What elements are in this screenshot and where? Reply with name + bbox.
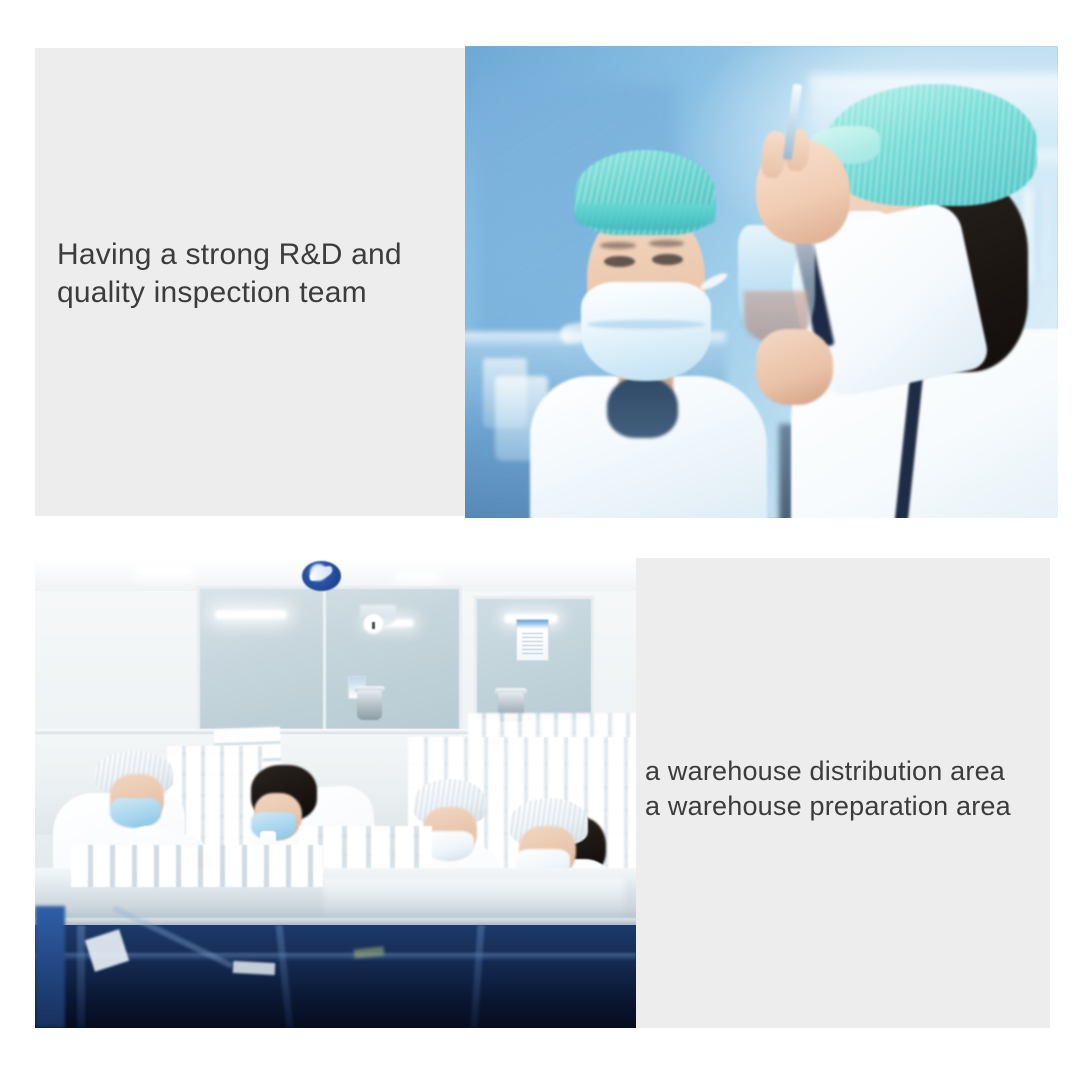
technician-left-cap-band — [575, 204, 714, 230]
technician-left-face-mask — [581, 282, 711, 381]
worker-a-face-mask — [110, 798, 161, 829]
left-blue-panel — [35, 906, 65, 1028]
section-rd-quality-inspection: Having a strong R&D and quality inspecti… — [0, 0, 1080, 520]
notice-board-text-lines — [522, 633, 544, 654]
photo-lab-inspection — [465, 46, 1058, 518]
technician-right-lower-hand — [756, 329, 833, 405]
under-table-paper-two — [233, 961, 276, 975]
clock-hand — [372, 622, 375, 629]
table-carton-row — [71, 845, 323, 887]
photo-warehouse-packing — [35, 558, 636, 1028]
caption-text-rd-quality: Having a strong R&D and quality inspecti… — [57, 236, 457, 312]
ceiling-light-one — [137, 568, 191, 574]
interior-window-large — [197, 586, 461, 732]
technician-left-brow-right — [649, 240, 685, 247]
technician-left-brow-left — [600, 242, 636, 249]
table-reflection — [323, 878, 624, 920]
warehouse-scene — [35, 558, 636, 1028]
ceiling-light-two — [396, 574, 438, 579]
inner-room-light-one — [215, 610, 287, 619]
section-warehouse-areas: a warehouse distribution area a warehous… — [0, 520, 1080, 1080]
lab-scene — [465, 46, 1058, 518]
technician-left-eye-right — [652, 254, 683, 265]
window-mullion — [323, 586, 326, 732]
product-detail-page: Having a strong R&D and quality inspecti… — [0, 0, 1080, 1080]
under-table-area — [35, 925, 636, 1028]
caption-text-warehouse: a warehouse distribution area a warehous… — [645, 754, 1055, 824]
technician-left-collar — [607, 376, 678, 437]
steel-container-one — [357, 690, 382, 721]
